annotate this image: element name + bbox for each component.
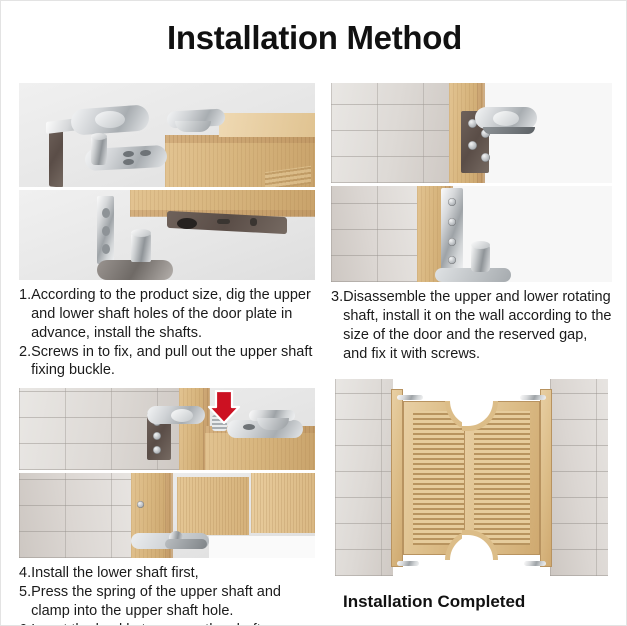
upper-shaft-hardware-photo bbox=[19, 83, 315, 187]
step-number: 4. bbox=[19, 564, 31, 583]
page-title: Installation Method bbox=[1, 19, 627, 57]
completed-saloon-doors-photo bbox=[331, 375, 612, 580]
lower-shaft-bracket-photo bbox=[19, 190, 315, 280]
left-column: 1. According to the product size, dig th… bbox=[19, 83, 315, 626]
step-text: Screws in to fix, and pull out the upper… bbox=[31, 343, 315, 381]
red-down-arrow-icon bbox=[207, 390, 241, 424]
step-number: 2. bbox=[19, 343, 31, 362]
step-number: 1. bbox=[19, 286, 31, 305]
step-number: 6. bbox=[19, 621, 31, 626]
step-text: Disassemble the upper and lower rotating… bbox=[343, 288, 612, 363]
step-text: Press the spring of the upper shaft and … bbox=[31, 583, 315, 621]
right-steps: 3. Disassemble the upper and lower rotat… bbox=[331, 282, 612, 363]
step-text: According to the product size, dig the u… bbox=[31, 286, 315, 343]
install-lower-shaft-photo bbox=[19, 473, 315, 558]
right-column: 3. Disassemble the upper and lower rotat… bbox=[331, 83, 612, 612]
step-item: 6. Insert the buckle to secure the shaft… bbox=[19, 621, 315, 626]
installation-completed-label: Installation Completed bbox=[331, 580, 612, 612]
step-item: 4. Install the lower shaft first, bbox=[19, 564, 315, 583]
step-item: 2. Screws in to fix, and pull out the up… bbox=[19, 343, 315, 381]
step-number: 5. bbox=[19, 583, 31, 602]
left-steps-bottom: 4. Install the lower shaft first, 5. Pre… bbox=[19, 558, 315, 626]
lower-rotating-shaft-on-wall-photo bbox=[331, 186, 612, 282]
step-text: Install the lower shaft first, bbox=[31, 564, 315, 583]
pull-out-buckle-photo bbox=[19, 388, 315, 470]
left-steps-top: 1. According to the product size, dig th… bbox=[19, 280, 315, 380]
step-item: 3. Disassemble the upper and lower rotat… bbox=[331, 288, 612, 363]
step-item: 5. Press the spring of the upper shaft a… bbox=[19, 583, 315, 621]
installation-method-infographic: Installation Method bbox=[0, 0, 627, 626]
step-item: 1. According to the product size, dig th… bbox=[19, 286, 315, 343]
step-number: 3. bbox=[331, 288, 343, 307]
upper-rotating-shaft-on-wall-photo bbox=[331, 83, 612, 183]
step-text: Insert the buckle to secure the shaft. bbox=[31, 621, 315, 626]
